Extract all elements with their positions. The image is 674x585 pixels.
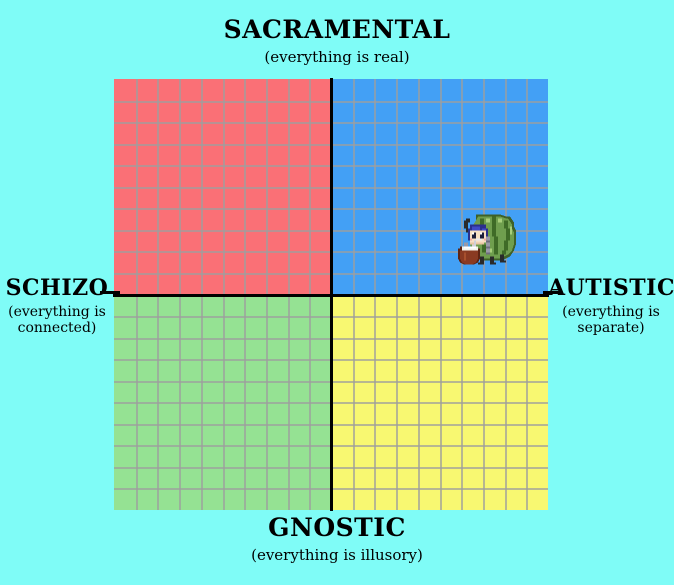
axis-pole-schizo: SCHIZO [0, 276, 114, 301]
axis-pole-sacramental: SACRAMENTAL [0, 16, 674, 45]
data-point-watermelon-sheep-sprite[interactable] [454, 208, 522, 277]
axis-label-left: SCHIZO (everything is connected) [0, 276, 114, 336]
axis-gloss-autistic: (everything is separate) [548, 304, 674, 336]
plot-area [114, 79, 548, 510]
quadrant-schizo-sacramental [114, 79, 331, 295]
axis-arm-right [543, 291, 561, 294]
axis-label-bottom: GNOSTIC (everything is illusory) [0, 514, 674, 564]
quadrant-chart: SACRAMENTAL (everything is real) SCHIZO … [0, 0, 674, 585]
axis-pole-autistic: AUTISTIC [548, 276, 674, 301]
axis-label-top: SACRAMENTAL (everything is real) [0, 16, 674, 66]
axis-gloss-sacramental: (everything is real) [0, 49, 674, 66]
axis-gloss-schizo: (everything is connected) [0, 304, 114, 336]
axis-pole-gnostic: GNOSTIC [0, 514, 674, 543]
quadrant-autistic-gnostic [331, 295, 548, 511]
axis-gloss-gnostic: (everything is illusory) [0, 547, 674, 564]
axis-horizontal [113, 294, 549, 297]
axis-label-right: AUTISTIC (everything is separate) [548, 276, 674, 336]
quadrant-schizo-gnostic [114, 295, 331, 511]
axis-arm-left [100, 291, 120, 294]
